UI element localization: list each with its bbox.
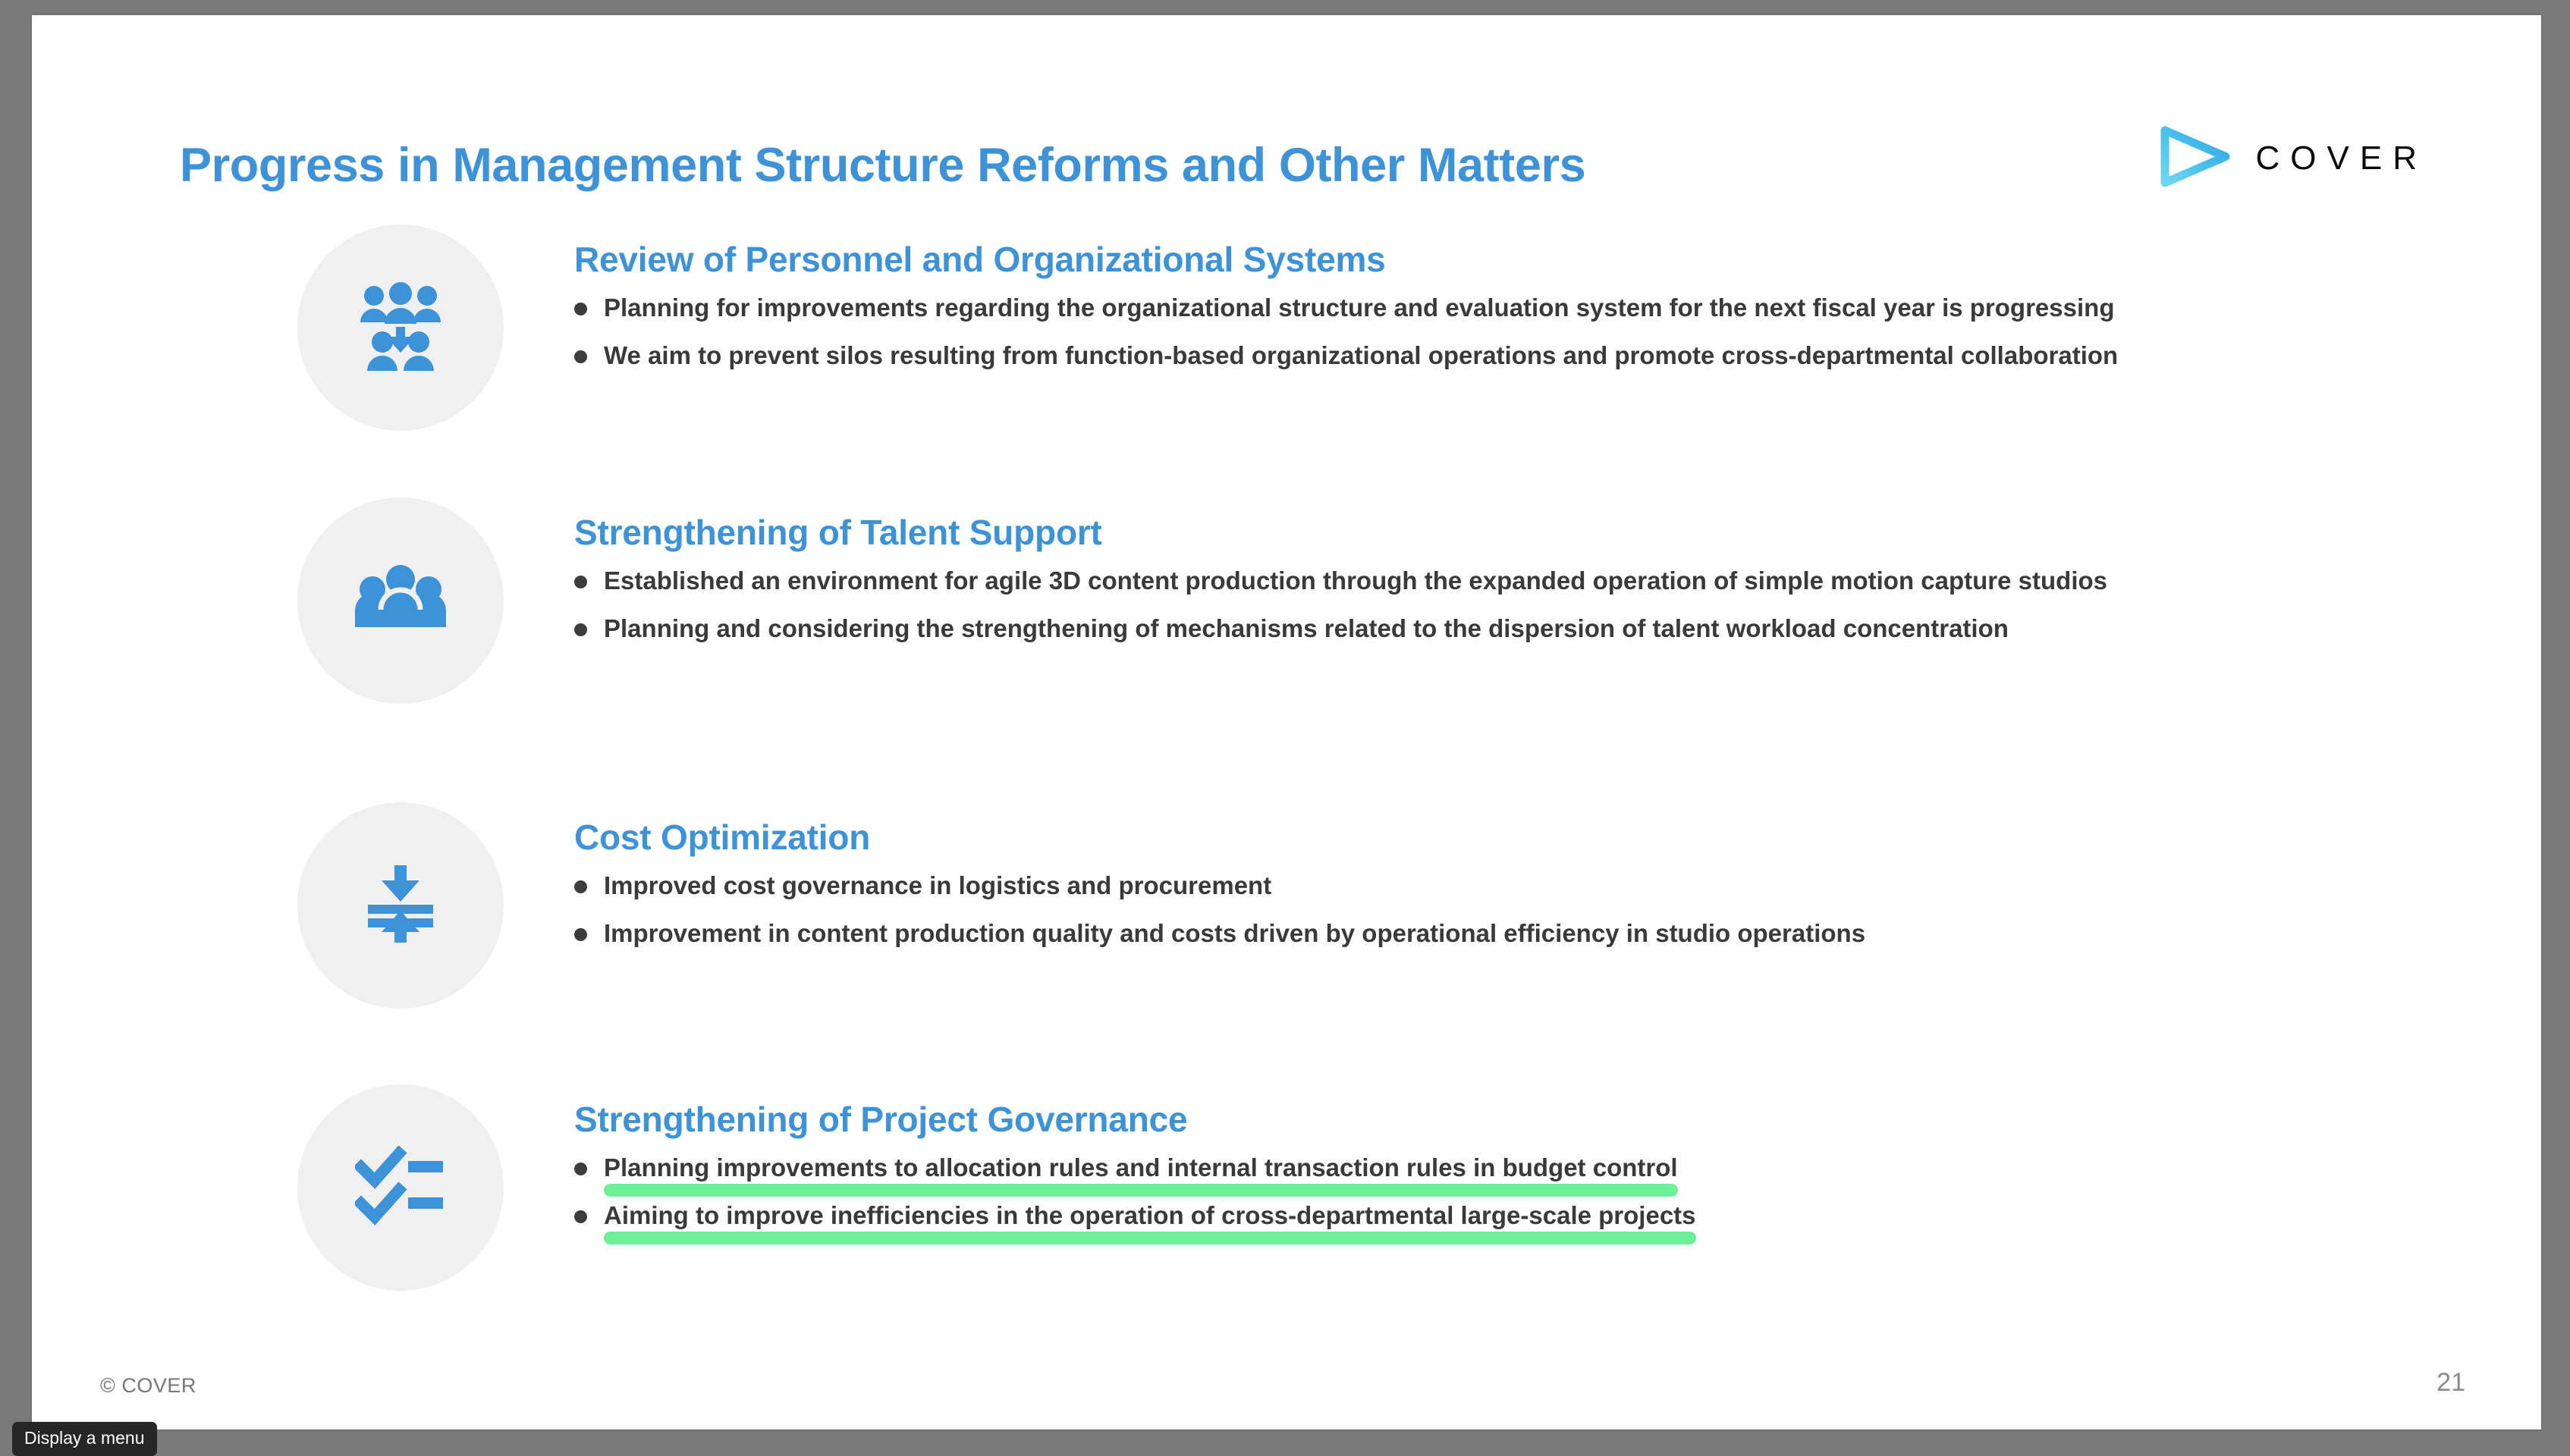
screen-background: Progress in Management Structure Reforms… <box>0 0 2570 1456</box>
list-item: Aiming to improve inefficiencies in the … <box>574 1198 2289 1234</box>
bullet-dot-icon <box>574 880 587 893</box>
page-title: Progress in Management Structure Reforms… <box>180 138 1585 193</box>
section-body: Cost Optimization Improved cost governan… <box>504 802 2497 952</box>
bullet-text-inner: Aiming to improve inefficiencies in the … <box>604 1201 1696 1229</box>
org-structure-people-down-arrow-icon <box>297 224 504 431</box>
section-body: Strengthening of Project Governance Plan… <box>504 1084 2497 1234</box>
page-number: 21 <box>2436 1368 2465 1398</box>
content-section-cost: Cost Optimization Improved cost governan… <box>297 802 2497 1009</box>
highlighted-phrase: Planning improvements to allocation rule… <box>604 1150 1678 1186</box>
bullet-dot-icon <box>574 1163 587 1175</box>
green-highlight-underline <box>604 1232 1696 1244</box>
bullet-text-inner: Planning improvements to allocation rule… <box>604 1153 1678 1181</box>
bullet-text: Planning for improvements regarding the … <box>604 290 2289 326</box>
content-section-personnel: Review of Personnel and Organizational S… <box>297 224 2497 431</box>
presentation-slide: Progress in Management Structure Reforms… <box>32 15 2541 1429</box>
bullet-text: Improved cost governance in logistics an… <box>604 868 2289 904</box>
bullet-text: We aim to prevent silos resulting from f… <box>604 338 2289 374</box>
section-heading: Strengthening of Talent Support <box>574 513 2497 553</box>
list-item: Planning and considering the strengtheni… <box>574 611 2289 647</box>
section-heading: Cost Optimization <box>574 817 2497 858</box>
cover-brand-logo: COVER <box>2157 124 2427 193</box>
content-section-talent: Strengthening of Talent Support Establis… <box>297 497 2497 704</box>
list-item: Established an environment for agile 3D … <box>574 563 2289 599</box>
bullet-text: Planning improvements to allocation rule… <box>604 1150 2289 1186</box>
footer-copyright: © COVER <box>100 1374 196 1398</box>
list-item: Improved cost governance in logistics an… <box>574 868 2289 904</box>
bullet-list: Planning for improvements regarding the … <box>574 290 2497 374</box>
status-tooltip: Display a menu <box>12 1422 157 1456</box>
bullet-text: Improvement in content production qualit… <box>604 916 2289 952</box>
content-section-governance: Strengthening of Project Governance Plan… <box>297 1084 2497 1291</box>
compress-cost-reduction-icon <box>297 802 504 1009</box>
play-triangle-logo-icon <box>2157 124 2233 193</box>
bullet-list: Planning improvements to allocation rule… <box>574 1150 2497 1234</box>
bullet-text: Established an environment for agile 3D … <box>604 563 2289 599</box>
bullet-text: Planning and considering the strengtheni… <box>604 611 2289 647</box>
green-highlight-underline <box>604 1184 1678 1197</box>
bullet-dot-icon <box>574 928 587 941</box>
bullet-dot-icon <box>574 623 587 636</box>
section-heading: Review of Personnel and Organizational S… <box>574 240 2497 280</box>
people-group-icon <box>297 497 504 704</box>
section-body: Review of Personnel and Organizational S… <box>504 224 2497 374</box>
list-item: Improvement in content production qualit… <box>574 916 2289 952</box>
list-item: We aim to prevent silos resulting from f… <box>574 338 2289 374</box>
section-body: Strengthening of Talent Support Establis… <box>504 497 2497 647</box>
bullet-list: Improved cost governance in logistics an… <box>574 868 2497 952</box>
list-item: Planning improvements to allocation rule… <box>574 1150 2289 1186</box>
bullet-dot-icon <box>574 576 587 588</box>
section-heading: Strengthening of Project Governance <box>574 1100 2497 1140</box>
highlighted-phrase: Aiming to improve inefficiencies in the … <box>604 1198 1696 1234</box>
cover-wordmark: COVER <box>2253 142 2427 175</box>
bullet-dot-icon <box>574 350 587 363</box>
list-item: Planning for improvements regarding the … <box>574 290 2289 326</box>
bullet-dot-icon <box>574 1210 587 1223</box>
bullet-text: Aiming to improve inefficiencies in the … <box>604 1198 2289 1234</box>
bullet-list: Established an environment for agile 3D … <box>574 563 2497 647</box>
checklist-icon <box>297 1084 504 1291</box>
bullet-dot-icon <box>574 303 587 315</box>
